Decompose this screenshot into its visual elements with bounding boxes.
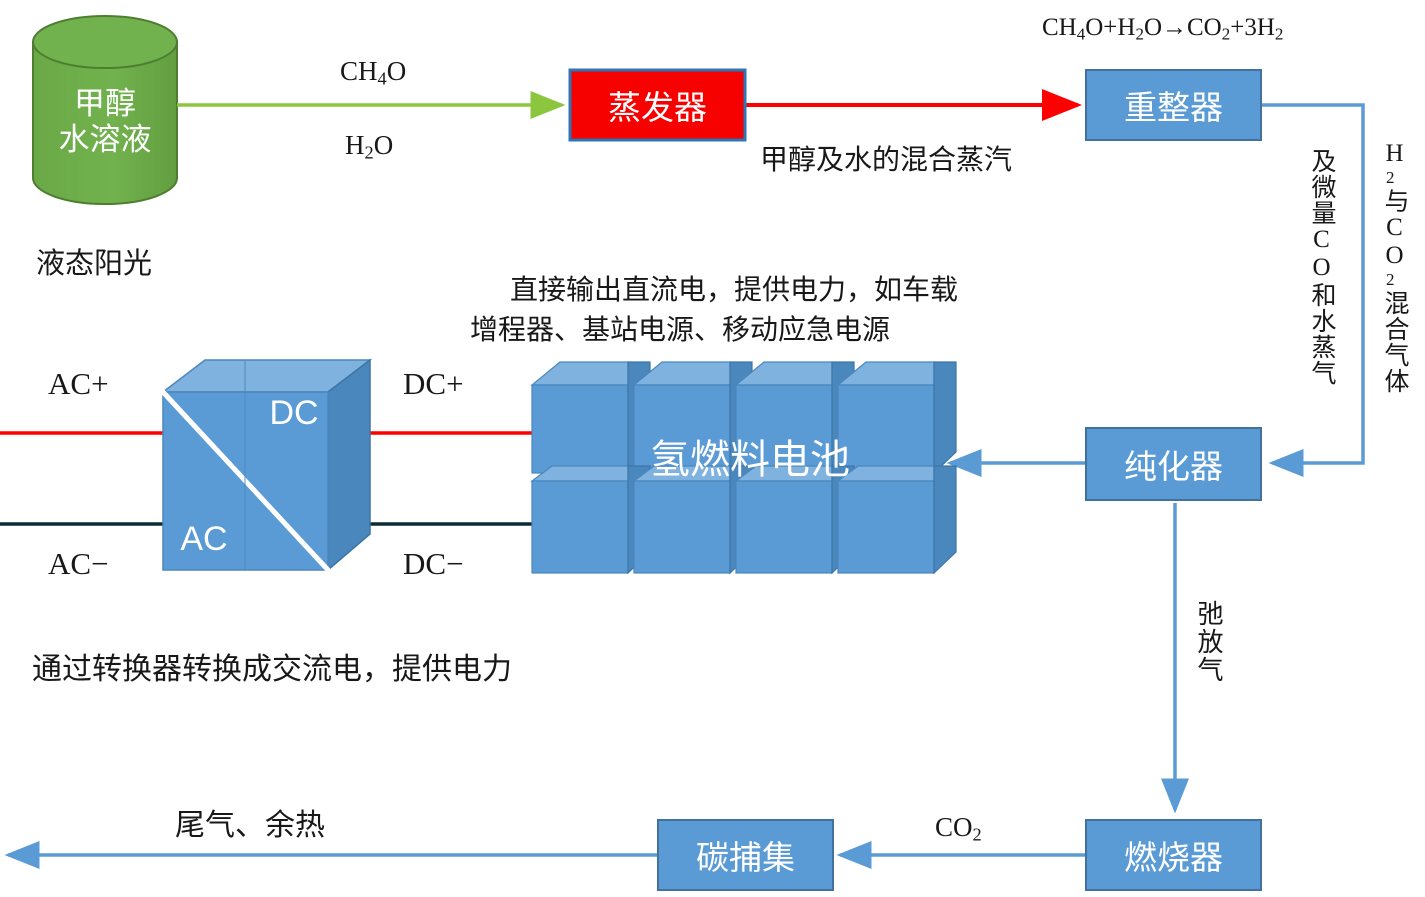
purifier-shape: [1086, 428, 1261, 500]
evaporator-shape: [570, 70, 745, 140]
fuel-cell-stack-shape: [532, 362, 956, 573]
tank-caption: 液态阳光: [36, 240, 152, 282]
diagram-canvas: 甲醇 水溶液 液态阳光 CH4O H2O 蒸发器 甲醇及水的混合蒸汽 CH4O+…: [0, 0, 1425, 897]
feed-bottom-label: H2O: [345, 130, 393, 164]
dc-usage-caption-line1: 直接输出直流电，提供电力，如车载: [510, 268, 958, 308]
ac-minus-label: AC−: [48, 546, 109, 582]
dc-usage-caption-line2: 增程器、基站电源、移动应急电源: [470, 308, 890, 348]
exhaust-label: 尾气、余热: [175, 800, 325, 844]
evaporator-out-label: 甲醇及水的混合蒸汽: [760, 138, 1012, 178]
connector-layer: [0, 0, 1425, 897]
purge-gas-label: 弛放气: [1190, 600, 1227, 684]
carbon-capture-shape: [658, 820, 833, 890]
ac-usage-caption: 通过转换器转换成交流电，提供电力: [32, 644, 512, 688]
dc-minus-label: DC−: [403, 546, 464, 582]
reformer-out-right-label: H2与CO2混合气体: [1376, 140, 1412, 394]
reformer-shape: [1086, 70, 1261, 140]
reformer-out-left-label: 及微量CO和水蒸气: [1303, 148, 1339, 386]
converter-shape: [163, 360, 370, 570]
methanol-tank-shape: [33, 16, 177, 204]
ac-plus-label: AC+: [48, 366, 109, 402]
dc-plus-label: DC+: [403, 366, 464, 402]
reformer-equation: CH4O+H2O→CO2+3H2: [1042, 14, 1283, 44]
burner-shape: [1086, 820, 1261, 890]
feed-top-label: CH4O: [340, 56, 406, 90]
co2-label: CO2: [935, 812, 982, 846]
